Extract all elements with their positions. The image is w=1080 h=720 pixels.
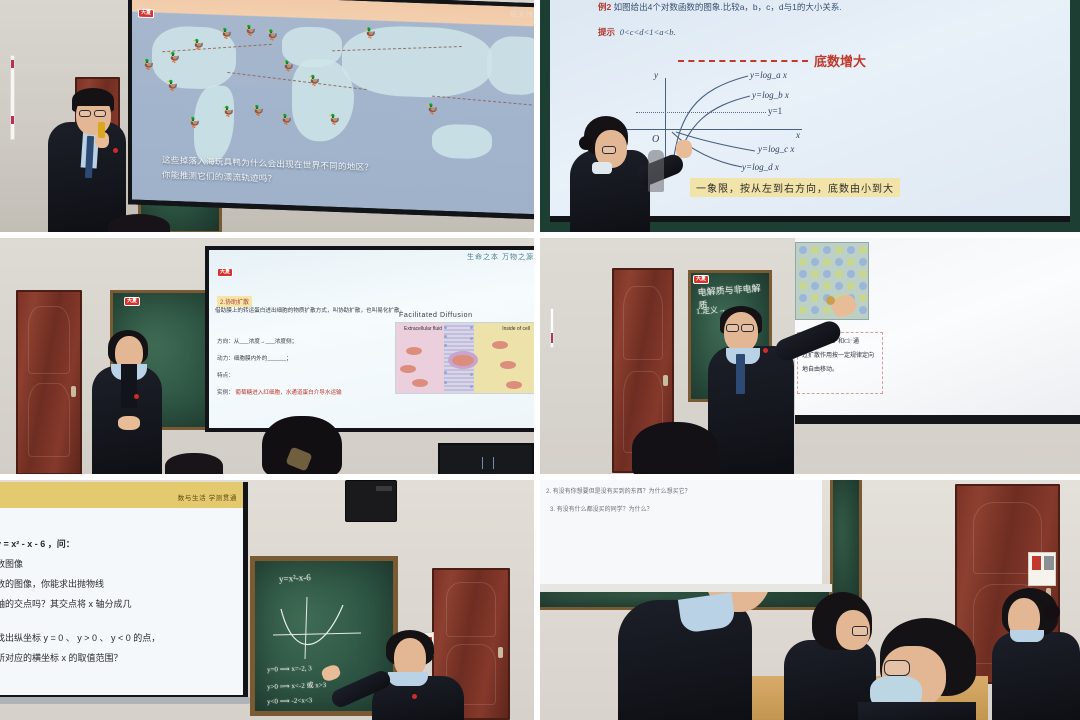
projection-screen: 生命之本 万物之源 大夏 2.协助扩散 借助膜上的转运蛋白进出细胞的物质扩散方式… [205,246,534,432]
slide-line-5: 找出纵坐标 y = 0 、 y > 0 、 y < 0 的点， [0,630,160,647]
wall-poster [1028,552,1056,586]
lapel-pin [412,694,417,699]
field-example-value: 葡萄糖进入红细胞，水通道蛋白介导水运输 [235,390,341,396]
diagram-title: Facilitated Diffusion [399,312,473,319]
glasses-icon [884,660,910,676]
photo-collage-grid: 大夏 经天纬地 大夏 🦆 🦆 [0,0,1080,720]
glasses-icon [79,110,91,117]
field-power: 动力：细胞膜内外的______； [217,355,292,364]
slide-heading: 2.协助扩散 [217,296,252,307]
duck-icon: 🦆 [220,30,232,40]
field-direction: 方向：从___浓度→___浓度侧； [217,338,297,347]
panel-math-parabola-lesson[interactable]: 数与生活 学测贯通 y = x² - x - 6 ，问： 数图像 数的图像，你能… [0,480,534,720]
slide-line-1: y = x² - x - 6 ，问： [0,536,75,553]
duck-icon: 🦆 [282,62,294,72]
wall-poster [10,55,15,140]
diagram-right-label: Inside of cell [502,326,530,332]
whiteboard-note-line-2: 过扩散作用按一定规律定向 [802,351,874,361]
laser-pointer [98,122,105,138]
chalkboard-note-1: y=0 ⟹ x=-2, 3 [267,664,312,674]
student-head [632,422,718,474]
duck-icon: 🦆 [364,29,376,39]
slide-logo-badge: 大夏 [217,268,233,277]
duck-icon: 🦆 [252,107,264,117]
duck-icon: 🦆 [166,82,178,92]
world-map-slide: 经天纬地 大夏 🦆 🦆 🦆 🦆 🦆 [132,0,534,215]
slide-line-2: 数图像 [0,556,23,573]
lapel [121,364,137,408]
wall-poster [550,308,554,348]
slide-caption-line-2: 你能推测它们的漂流轨迹吗？ [162,169,276,186]
wall-speaker [345,480,397,522]
panel-discussion-group-activity[interactable]: 2. 有没有你想要但是没有买到的东西？为什么想买它？ 3. 有没有什么都没买的同… [540,480,1080,720]
diagram-left-label: Extracellular fluid [404,326,442,332]
duck-icon: 🦆 [168,54,180,64]
panel-math-logarithm-lesson[interactable]: 例2 如图给出4个对数函数的图象.比较a，b，c，d与1的大小关系. 提示 0<… [540,0,1080,232]
glasses-icon [602,146,616,154]
question-2-dup: 2. 有没有你想要但是没有买到的东西？为什么想买它？ [546,486,691,495]
slide-brand-tag: 生命之本 万物之源 [467,252,534,262]
curve-label-c: y=log_c x [758,144,794,154]
panel-geography-rubber-duck-lesson[interactable]: 大夏 经天纬地 大夏 🦆 🦆 [0,0,534,232]
classroom-door[interactable] [16,290,82,474]
field-example-label: 实例： [217,390,234,396]
duck-icon: 🦆 [328,116,340,126]
curve-label-a: y=log_a x [750,70,787,80]
projection-screen: 经天纬地 大夏 🦆 🦆 🦆 🦆 🦆 [128,0,534,220]
slide-line-4: 轴的交点吗？其交点将 x 轴分成几 [0,596,132,613]
lapel-pin [134,394,139,399]
projection-screen: 数与生活 学测贯通 y = x² - x - 6 ，问： 数图像 数的图像，你能… [0,482,248,700]
glasses-icon [852,626,868,636]
lapel-pin [113,148,118,153]
student-head [165,453,223,474]
glasses-icon [726,324,739,332]
slide-line-3: 数的图像，你能求出抛物线 [0,576,104,593]
duck-icon: 🦆 [192,41,204,51]
slide-brand-tag: 经天纬地 [510,9,534,20]
pointing-hand [676,140,692,158]
slide-banner-text: 数与生活 学测贯通 [178,492,237,502]
drift-route-4 [432,96,534,107]
panel-chemistry-electrolyte-lesson[interactable]: 电解质与非电解质 1.定义→ 大夏 [540,238,1080,474]
duck-icon: 🦆 [308,77,320,87]
curve-label-y1: y=1 [768,106,782,116]
hair-bun [579,136,593,150]
field-feature: 特点： [217,372,234,381]
lapel-pin [763,348,768,353]
cell-membrane-diagram: Extracellular fluid Inside of cell [395,322,534,394]
glasses-icon [741,324,754,332]
glasses-icon [94,110,106,117]
chalkboard-equation: y=x²-x-6 [279,572,311,584]
tv-monitor [438,443,534,474]
panel-biology-facilitated-diffusion-lesson[interactable]: 大夏 生命之本 万物之源 大夏 2.协助扩散 借助膜上的转运蛋白进出细胞的物质扩… [0,238,534,474]
question-3-dup: 3. 有没有什么都没买的同学？为什么？ [550,504,653,513]
duck-icon: 🦆 [142,61,154,71]
summary-banner: 一象限，按从左到右方向，底数由小到大 [690,178,900,197]
curve-label-d: y=log_d x [742,162,779,172]
whiteboard-front: 2. 有没有你想要但是没有买到的东西？为什么想买它？ 3. 有没有什么都没买的同… [540,480,822,584]
parabola-sketch [265,591,375,661]
duck-icon: 🦆 [244,27,256,37]
slide-line-6: 所对应的横坐标 x 的取值范围？ [0,650,123,667]
school-logo-badge: 大夏 [124,297,140,306]
screen-bottom-bar [0,697,250,704]
wristwatch [826,296,835,305]
slide-definition: 借助膜上的转运蛋白进出细胞的物质扩散方式，叫协助扩散，也叫易化扩散。 [215,307,534,316]
duck-icon: 🦆 [266,31,278,41]
whiteboard-tray [540,584,832,592]
duck-icon: 🦆 [222,108,234,118]
chalkboard-note-3: y<0 ⟹ -2<x<3 [267,696,312,706]
collar [592,162,612,174]
duck-icon: 🦆 [426,105,438,115]
clasped-hands [118,416,140,430]
school-logo-badge: 大夏 [693,275,709,284]
slide-banner: 数与生活 学测贯通 [0,482,243,508]
hair-bun [1044,604,1060,620]
hand-shadow [648,150,664,192]
chalkboard-note-2: y>0 ⟹ x<-2 或 x>3 [267,680,327,692]
whiteboard-note-line-3: 地自由移动。 [802,365,838,375]
slide-logo-badge: 大夏 [138,9,154,19]
duck-icon: 🦆 [188,118,200,128]
duck-icon: 🦆 [280,116,292,126]
land-australia [432,123,492,159]
curve-label-b: y=log_b x [752,90,789,100]
land-north-america-right [487,35,534,95]
